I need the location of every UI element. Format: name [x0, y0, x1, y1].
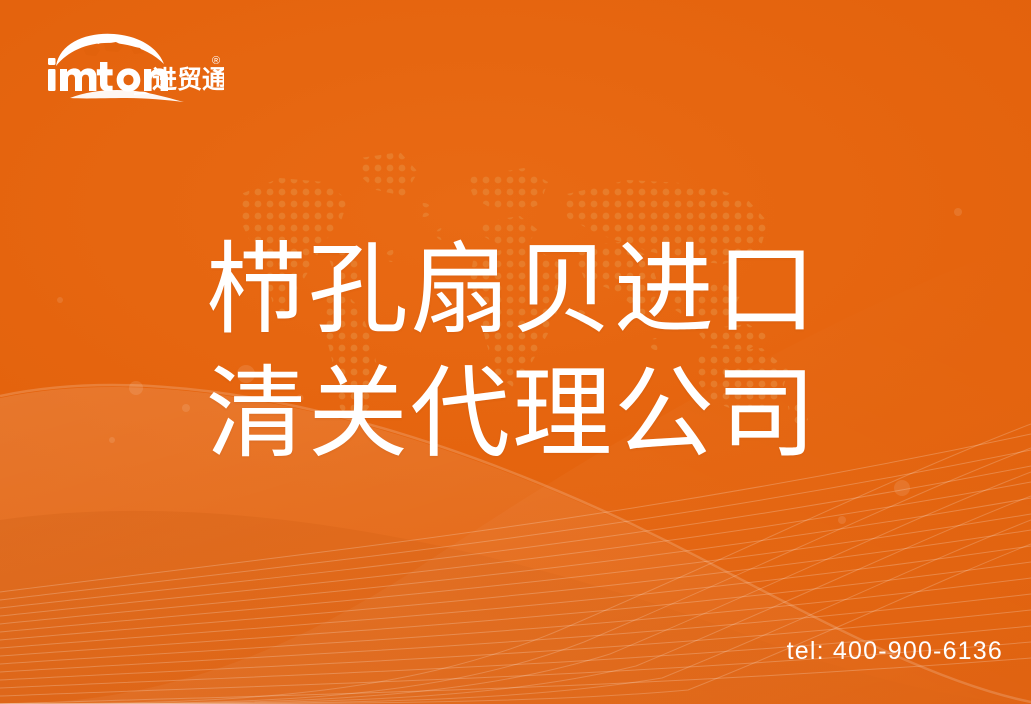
contact-phone[interactable]: tel: 400-900-6136	[787, 637, 1003, 666]
registered-trademark-icon: ®	[212, 55, 220, 67]
page-title: 栉孔扇贝进口 清关代理公司	[206, 228, 846, 476]
promo-banner: 进贸通 ® 栉孔扇贝进口 清关代理公司 tel: 400-900-6136	[0, 0, 1031, 704]
company-logo[interactable]: 进贸通 ®	[34, 30, 224, 104]
logo-chinese-text: 进贸通	[152, 66, 224, 94]
title-line-1: 栉孔扇贝进口	[206, 228, 846, 352]
title-line-2: 清关代理公司	[206, 352, 846, 476]
wordmark-imton	[48, 58, 168, 92]
globe-arc-icon	[56, 34, 164, 66]
